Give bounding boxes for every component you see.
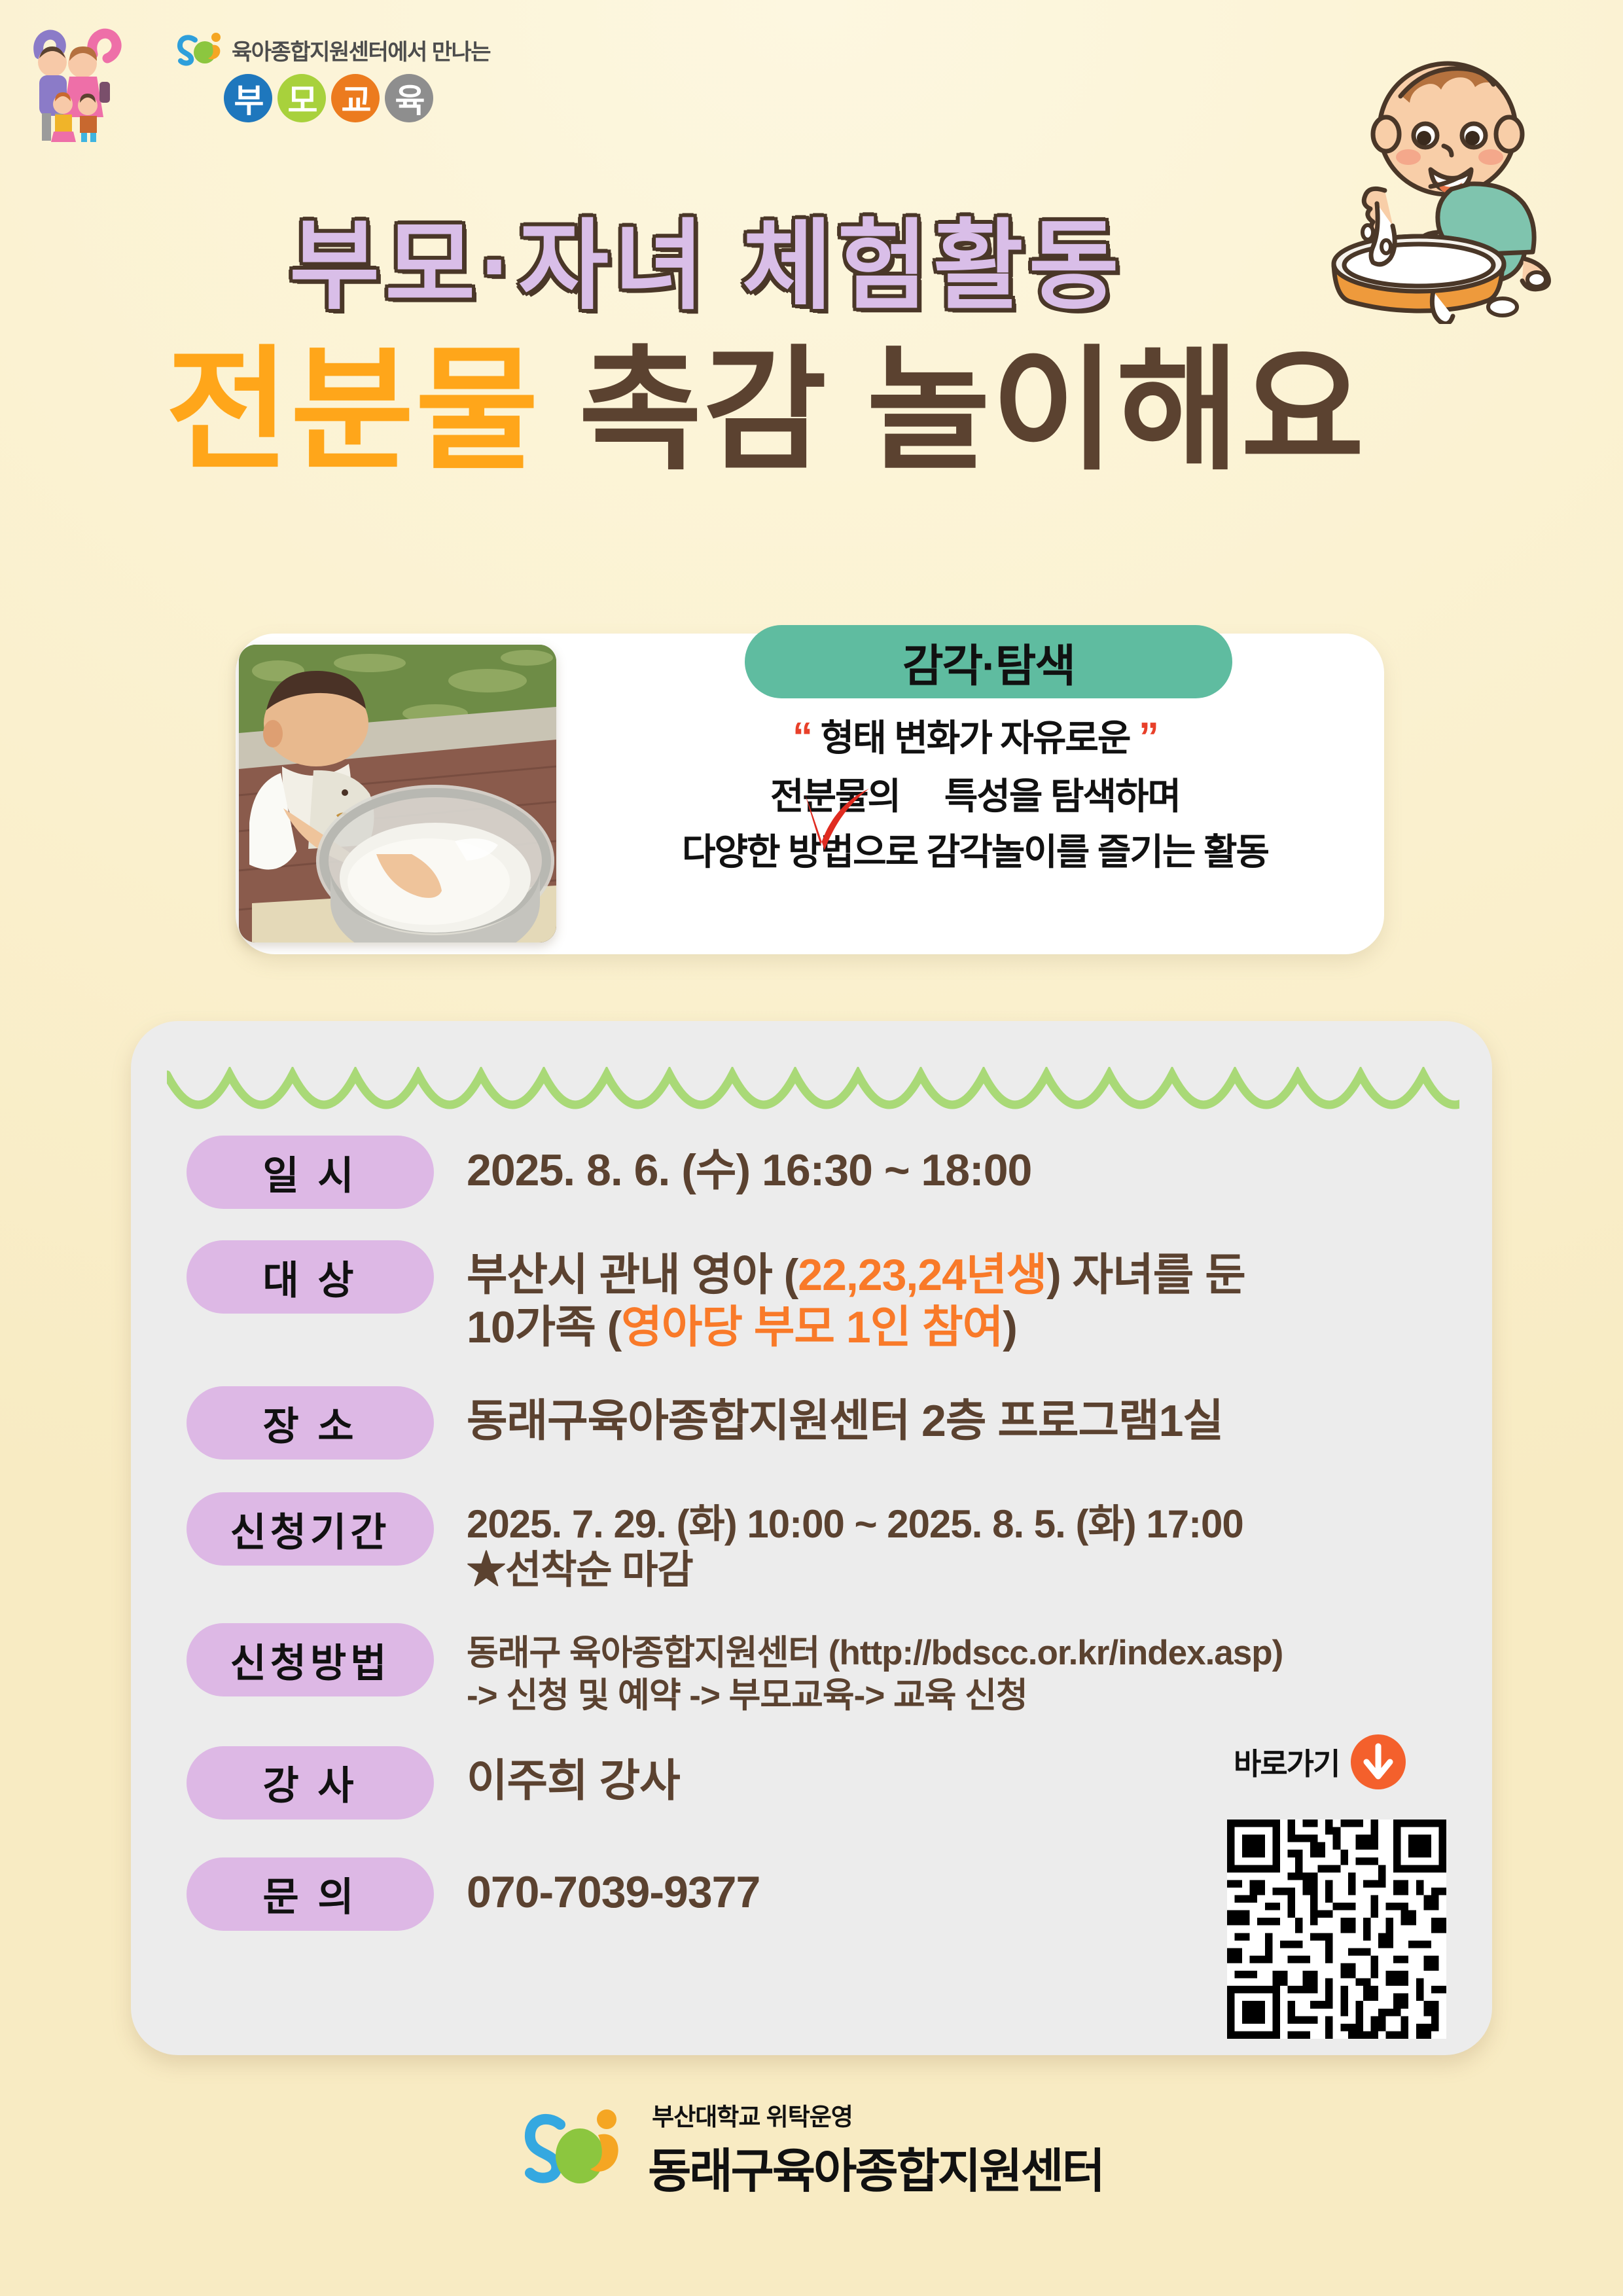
label-apply-method: 신청방법 [187,1623,434,1696]
poster-subtitle: 부모·자녀 체험활동 [0,187,1623,329]
info-row-apply-period: 신청기간 2025. 7. 29. (화) 10:00 ~ 2025. 8. 5… [131,1492,1492,1593]
footer-subtitle: 부산대학교 위탁운영 [652,2097,1103,2132]
brand-circle-yuk-label: 육 [395,75,423,122]
value-apply-period-line2: ★선착순 마감 [467,1547,1243,1593]
sc-logo-icon [175,31,226,69]
value-apply-method: 동래구 육아종합지원센터 (http://bdscc.or.kr/index.a… [467,1623,1283,1717]
info-row-datetime: 일 시 2025. 8. 6. (수) 16:30 ~ 18:00 [131,1136,1492,1209]
label-contact: 문 의 [187,1857,434,1931]
value-instructor: 이주희 강사 [467,1746,680,1808]
feature-desc-line1: “ 형태 변화가 자유로운 ” [563,707,1387,768]
shortcut-label: 바로가기 [1234,1740,1339,1784]
value-contact: 070-7039-9377 [467,1857,760,1919]
brand-circles: 부 모 교 육 [224,74,490,122]
value-target: 부산시 관내 영아 (22,23,24년생) 자녀를 둔 10가족 (영아당 부… [467,1240,1245,1354]
activity-photo [239,645,556,942]
footer-text: 부산대학교 위탁운영 동래구육아종합지원센터 [648,2097,1103,2201]
red-check-mark-icon [797,782,876,861]
family-illustration-icon [20,16,164,144]
brand-tagline: 육아종합지원센터에서 만나는 [232,34,490,66]
value-target-l2b: ) [1003,1302,1017,1352]
value-target-line1: 부산시 관내 영아 (22,23,24년생) 자녀를 둔 [467,1249,1245,1302]
value-datetime: 2025. 8. 6. (수) 16:30 ~ 18:00 [467,1136,1031,1197]
info-rows: 일 시 2025. 8. 6. (수) 16:30 ~ 18:00 대 상 부산… [131,1021,1492,1935]
header-logo: 육아종합지원센터에서 만나는 부 모 교 육 [20,16,490,144]
brand-circle-yuk: 육 [385,74,433,122]
value-apply-period-line1: 2025. 7. 29. (화) 10:00 ~ 2025. 8. 5. (화)… [467,1501,1243,1547]
brand-circle-mo: 모 [277,74,326,122]
label-apply-period: 신청기간 [187,1492,434,1566]
feature-desc-line1-text: 형태 변화가 자유로운 [821,717,1130,759]
feature-desc-line3: 다양한 방법으로 감각놀이를 즐기는 활동 [563,824,1387,880]
quote-close: ” [1139,715,1158,760]
info-row-apply-method: 신청방법 동래구 육아종합지원센터 (http://bdscc.or.kr/in… [131,1623,1492,1717]
brand-circle-gyo: 교 [331,74,380,122]
feature-desc-line2b: 특성을 탐색하며 [944,776,1180,817]
info-row-location: 장 소 동래구육아종합지원센터 2층 프로그램1실 [131,1386,1492,1460]
brand-circle-gyo-label: 교 [342,75,370,122]
brand-top: 육아종합지원센터에서 만나는 [175,31,490,69]
value-apply-period: 2025. 7. 29. (화) 10:00 ~ 2025. 8. 5. (화)… [467,1492,1243,1593]
footer: 부산대학교 위탁운영 동래구육아종합지원센터 [0,2097,1623,2201]
value-target-l2-highlight: 영아당 부모 1인 참여 [621,1302,1003,1352]
brand-circle-bu-label: 부 [234,75,262,122]
label-target: 대 상 [187,1240,434,1314]
brand-block: 육아종합지원센터에서 만나는 부 모 교 육 [175,16,490,122]
main-title-highlight: 전분물 [166,336,540,486]
info-row-target: 대 상 부산시 관내 영아 (22,23,24년생) 자녀를 둔 10가족 (영… [131,1240,1492,1354]
value-target-l1b: ) 자녀를 둔 [1046,1250,1245,1300]
value-apply-method-line1: 동래구 육아종합지원센터 (http://bdscc.or.kr/index.a… [467,1632,1283,1675]
value-target-l1a: 부산시 관내 영아 ( [467,1250,798,1300]
value-target-l1-highlight: 22,23,24년생 [798,1250,1046,1300]
main-title-rest: 촉감 놀이해요 [579,336,1366,486]
label-location: 장 소 [187,1386,434,1460]
value-target-line2: 10가족 (영아당 부모 1인 참여) [467,1302,1245,1354]
footer-title: 동래구육아종합지원센터 [648,2132,1103,2201]
label-instructor: 강 사 [187,1746,434,1820]
shortcut-group[interactable]: 바로가기 [1234,1734,1406,1789]
value-apply-method-line2: -> 신청 및 예약 -> 부모교육-> 교육 신청 [467,1675,1283,1717]
value-location: 동래구육아종합지원센터 2층 프로그램1실 [467,1386,1223,1448]
down-arrow-icon[interactable] [1351,1734,1406,1789]
brand-circle-bu: 부 [224,74,272,122]
feature-desc-line2: 전분물의 특성을 탐색하며 [563,768,1387,824]
footer-sc-logo-icon [520,2105,631,2193]
brand-circle-mo-label: 모 [288,75,316,122]
feature-badge: 감각·탐색 [745,625,1232,698]
quote-open: “ [793,715,811,760]
label-datetime: 일 시 [187,1136,434,1209]
value-target-l2a: 10가족 ( [467,1302,621,1352]
poster-main-title: 전분물 촉감 놀이해요 [0,327,1623,495]
qr-code-icon[interactable] [1227,1820,1446,2039]
feature-description: “ 형태 변화가 자유로운 ” 전분물의 특성을 탐색하며 다양한 방법으로 감… [563,707,1387,880]
